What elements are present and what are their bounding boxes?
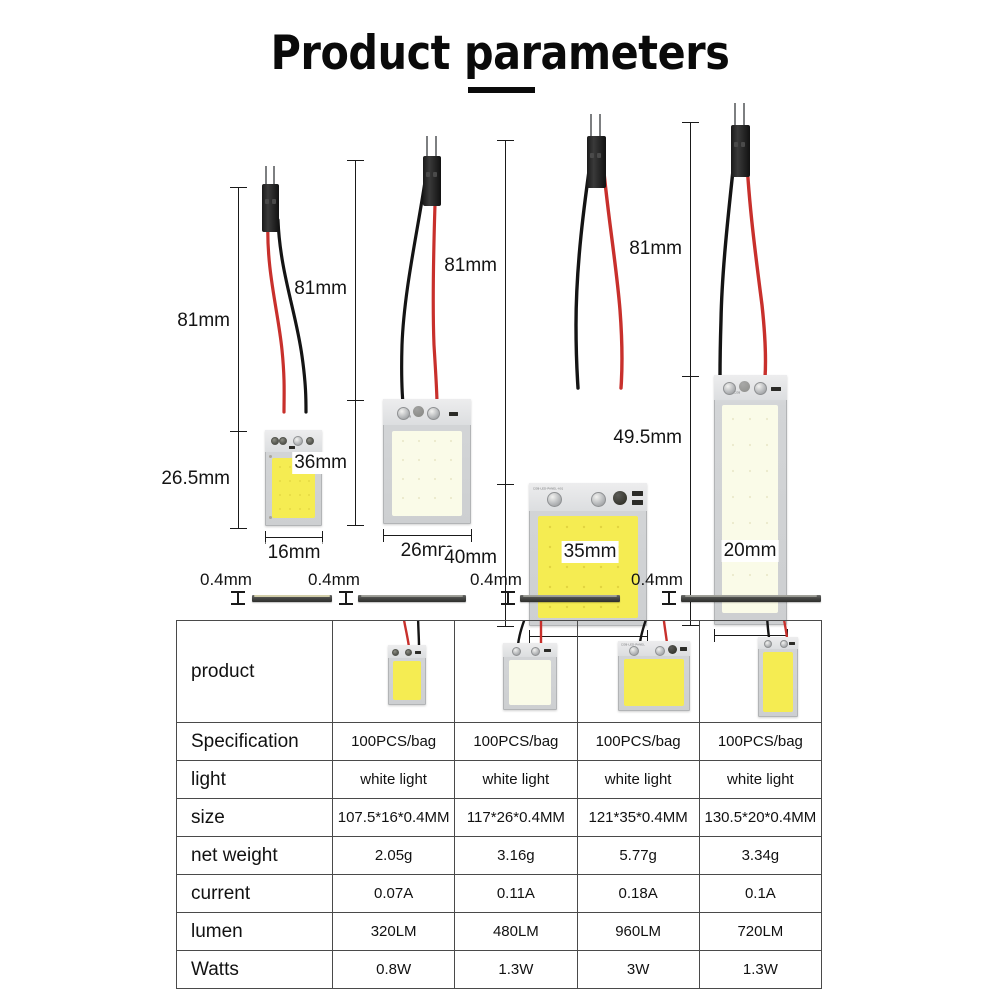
connector-window-right xyxy=(272,199,276,204)
slab-highlight xyxy=(685,595,817,597)
cell-current-2: 0.11A xyxy=(455,875,577,913)
table-row-net-weight: net weight 2.05g 3.16g 5.77g 3.34g xyxy=(177,837,822,875)
panel-3-connector xyxy=(585,136,609,188)
thumb-2-board xyxy=(503,643,557,710)
thumb-4-board xyxy=(758,637,798,717)
solder-pad-negative xyxy=(764,640,772,648)
thumb-3-board: COB-LED-PANEL xyxy=(618,641,690,711)
cell-specification-2: 100PCS/bag xyxy=(455,723,577,761)
cell-net-weight-2: 3.16g xyxy=(455,837,577,875)
panel-2-overall-label: 81mm xyxy=(292,278,349,300)
panel-2-overall-dimline xyxy=(355,160,356,526)
cell-specification-1: 100PCS/bag xyxy=(333,723,455,761)
thickness-label-2: 0.4mm xyxy=(308,570,360,590)
cob-dot-grid xyxy=(392,431,462,516)
thickness-ibeam-1 xyxy=(231,591,245,605)
cob-emitter-area xyxy=(763,652,793,712)
solder-pad-positive xyxy=(754,382,767,395)
slab-highlight xyxy=(361,595,463,597)
thickness-ibeam-4 xyxy=(662,591,676,605)
capacitor xyxy=(613,491,627,505)
pcb-silkscreen: COB-LED-PANEL-A01 xyxy=(533,487,563,491)
thumb-1-board xyxy=(388,645,426,705)
thickness-row: 0.4mm 0.4mm 0.4mm xyxy=(0,560,1000,620)
cell-lumen-4: 720LM xyxy=(699,913,821,951)
cob-emitter-area xyxy=(509,660,551,705)
panel-2-tick-mid xyxy=(347,400,364,401)
smd-resistor xyxy=(289,446,295,449)
panel-1-board xyxy=(265,430,322,526)
thickness-slab-1 xyxy=(252,595,332,602)
solder-pad-positive xyxy=(591,492,606,507)
panel-4-height-label: 49.5mm xyxy=(611,427,684,449)
cell-lumen-3: 960LM xyxy=(577,913,699,951)
smd-resistor xyxy=(680,647,687,651)
cob-emitter-area xyxy=(392,431,462,516)
thickness-slab-3 xyxy=(520,595,620,602)
solder-pad-2 xyxy=(405,649,412,656)
cell-current-1: 0.07A xyxy=(333,875,455,913)
cell-watts-3: 3W xyxy=(577,951,699,989)
connector-window-left xyxy=(734,142,738,147)
product-thumb-cell-3: COB-LED-PANEL xyxy=(577,621,699,723)
solder-pad-negative xyxy=(547,492,562,507)
solder-pad-positive xyxy=(427,407,440,420)
panel-2-width-dimline xyxy=(383,535,471,536)
panel-4-connector xyxy=(729,125,753,177)
solder-pad-4 xyxy=(306,437,314,445)
thickness-ibeam-3 xyxy=(501,591,515,605)
panel-1-width-dimline xyxy=(265,537,322,538)
cell-watts-1: 0.8W xyxy=(333,951,455,989)
panel-2-height-label: 36mm xyxy=(292,452,349,474)
cell-lumen-2: 480LM xyxy=(455,913,577,951)
connector-window-right xyxy=(597,153,601,158)
row-label-light: light xyxy=(177,761,333,799)
solder-pad-1 xyxy=(271,437,279,445)
cell-light-2: white light xyxy=(455,761,577,799)
connector-window-left xyxy=(426,172,430,177)
panel-2-wtick-left xyxy=(383,529,384,542)
smd-resistor-1 xyxy=(632,491,643,496)
table-row-specification: Specification 100PCS/bag 100PCS/bag 100P… xyxy=(177,723,822,761)
panel-4-width-label: 20mm xyxy=(722,540,779,562)
product-thumbnail-1 xyxy=(333,621,454,722)
cell-net-weight-1: 2.05g xyxy=(333,837,455,875)
panel-3-overall-label: 81mm xyxy=(442,255,499,277)
connector-pin-right xyxy=(273,166,275,186)
product-thumb-cell-2 xyxy=(455,621,577,723)
cell-specification-4: 100PCS/bag xyxy=(699,723,821,761)
product-thumbnail-2 xyxy=(455,621,576,722)
connector-housing xyxy=(262,184,279,232)
thickness-label-4: 0.4mm xyxy=(631,570,683,590)
table-row-current: current 0.07A 0.11A 0.18A 0.1A xyxy=(177,875,822,913)
product-thumbnail-4 xyxy=(700,621,821,722)
product-thumb-cell-4 xyxy=(699,621,821,723)
panel-2-tick-bottom xyxy=(347,525,364,526)
connector-pin-left xyxy=(265,166,267,186)
panel-2-connector xyxy=(421,156,443,206)
panel-3-tick-top xyxy=(497,140,514,141)
panel-2-board: COB xyxy=(383,399,471,524)
panel-2-tick-top xyxy=(347,160,364,161)
solder-pad-negative xyxy=(723,382,736,395)
connector-window-left xyxy=(590,153,594,158)
cell-size-1: 107.5*16*0.4MM xyxy=(333,799,455,837)
cell-light-4: white light xyxy=(699,761,821,799)
title-underline xyxy=(468,87,535,93)
solder-pad-positive xyxy=(780,640,788,648)
cell-current-3: 0.18A xyxy=(577,875,699,913)
smd-resistor-2 xyxy=(632,500,643,505)
panel-4-tick-mid xyxy=(682,376,699,377)
connector-window-right xyxy=(741,142,745,147)
thickness-ibeam-2 xyxy=(339,591,353,605)
smd-resistor xyxy=(544,649,551,652)
panel-4-overall-label: 81mm xyxy=(627,238,684,260)
solder-pad-2 xyxy=(279,437,287,445)
panel-4-overall-dimline xyxy=(690,122,691,626)
capacitor xyxy=(739,381,750,392)
row-label-watts: Watts xyxy=(177,951,333,989)
slab-highlight xyxy=(523,595,617,597)
ibeam-bottom xyxy=(501,603,515,605)
smd-resistor xyxy=(415,651,421,654)
cell-lumen-1: 320LM xyxy=(333,913,455,951)
panel-2-wtick-right xyxy=(471,529,472,542)
cell-light-3: white light xyxy=(577,761,699,799)
ibeam-bottom xyxy=(339,603,353,605)
connector-pin-left xyxy=(426,136,428,158)
solder-pad-3 xyxy=(293,436,303,446)
ibeam-bottom xyxy=(231,603,245,605)
product-thumbnail-3: COB-LED-PANEL xyxy=(578,621,699,722)
panel-3-tick-mid xyxy=(497,484,514,485)
panel-4-wires xyxy=(700,100,830,390)
product-thumb-cell-1 xyxy=(333,621,455,723)
row-label-net-weight: net weight xyxy=(177,837,333,875)
specifications-table: product xyxy=(176,620,822,989)
cob-emitter-area xyxy=(393,661,421,700)
connector-pin-right xyxy=(599,114,601,138)
cell-specification-3: 100PCS/bag xyxy=(577,723,699,761)
smd-resistor xyxy=(789,642,795,645)
connector-housing xyxy=(587,136,606,188)
cell-size-4: 130.5*20*0.4MM xyxy=(699,799,821,837)
cell-light-1: white light xyxy=(333,761,455,799)
row-label-size: size xyxy=(177,799,333,837)
cell-current-4: 0.1A xyxy=(699,875,821,913)
product-parameters-page: Product parameters xyxy=(0,0,1000,1000)
cob-emitter-area xyxy=(624,659,684,706)
connector-pin-right xyxy=(435,136,437,158)
solder-pad-positive xyxy=(655,646,665,656)
row-label-product: product xyxy=(177,621,333,723)
panel-4-group: COB xyxy=(0,100,250,570)
table-row-light: light white light white light white ligh… xyxy=(177,761,822,799)
cell-net-weight-3: 5.77g xyxy=(577,837,699,875)
row-label-current: current xyxy=(177,875,333,913)
connector-window-left xyxy=(265,199,269,204)
cell-watts-2: 1.3W xyxy=(455,951,577,989)
solder-pad-negative xyxy=(629,646,639,656)
page-title: Product parameters xyxy=(60,26,940,81)
table-row-product: product xyxy=(177,621,822,723)
thickness-slab-4 xyxy=(681,595,821,602)
cell-watts-4: 1.3W xyxy=(699,951,821,989)
cell-net-weight-4: 3.34g xyxy=(699,837,821,875)
capacitor xyxy=(413,406,424,417)
panel-4-tick-top xyxy=(682,122,699,123)
thickness-slab-2 xyxy=(358,595,466,602)
cell-size-3: 121*35*0.4MM xyxy=(577,799,699,837)
connector-pin-right xyxy=(743,103,745,127)
solder-pad-1 xyxy=(392,649,399,656)
connector-housing xyxy=(731,125,750,177)
thickness-label-3: 0.4mm xyxy=(470,570,522,590)
row-label-lumen: lumen xyxy=(177,913,333,951)
table-row-lumen: lumen 320LM 480LM 960LM 720LM xyxy=(177,913,822,951)
capacitor xyxy=(668,645,677,654)
solder-pad-negative xyxy=(397,407,410,420)
table-row-watts: Watts 0.8W 1.3W 3W 1.3W xyxy=(177,951,822,989)
smd-resistor xyxy=(449,412,458,416)
connector-pin-left xyxy=(734,103,736,127)
connector-window-right xyxy=(433,172,437,177)
slab-highlight xyxy=(254,595,329,597)
panel-3-overall-dimline xyxy=(505,140,506,627)
connector-pin-left xyxy=(590,114,592,138)
panel-diagrams: 81mm 26.5mm 16mm COB xyxy=(0,100,1000,570)
cell-size-2: 117*26*0.4MM xyxy=(455,799,577,837)
row-label-specification: Specification xyxy=(177,723,333,761)
thickness-label-1: 0.4mm xyxy=(200,570,252,590)
table-row-size: size 107.5*16*0.4MM 117*26*0.4MM 121*35*… xyxy=(177,799,822,837)
ibeam-bottom xyxy=(662,603,676,605)
connector-housing xyxy=(423,156,441,206)
panel-1-connector xyxy=(260,184,280,232)
smd-resistor xyxy=(771,387,781,391)
